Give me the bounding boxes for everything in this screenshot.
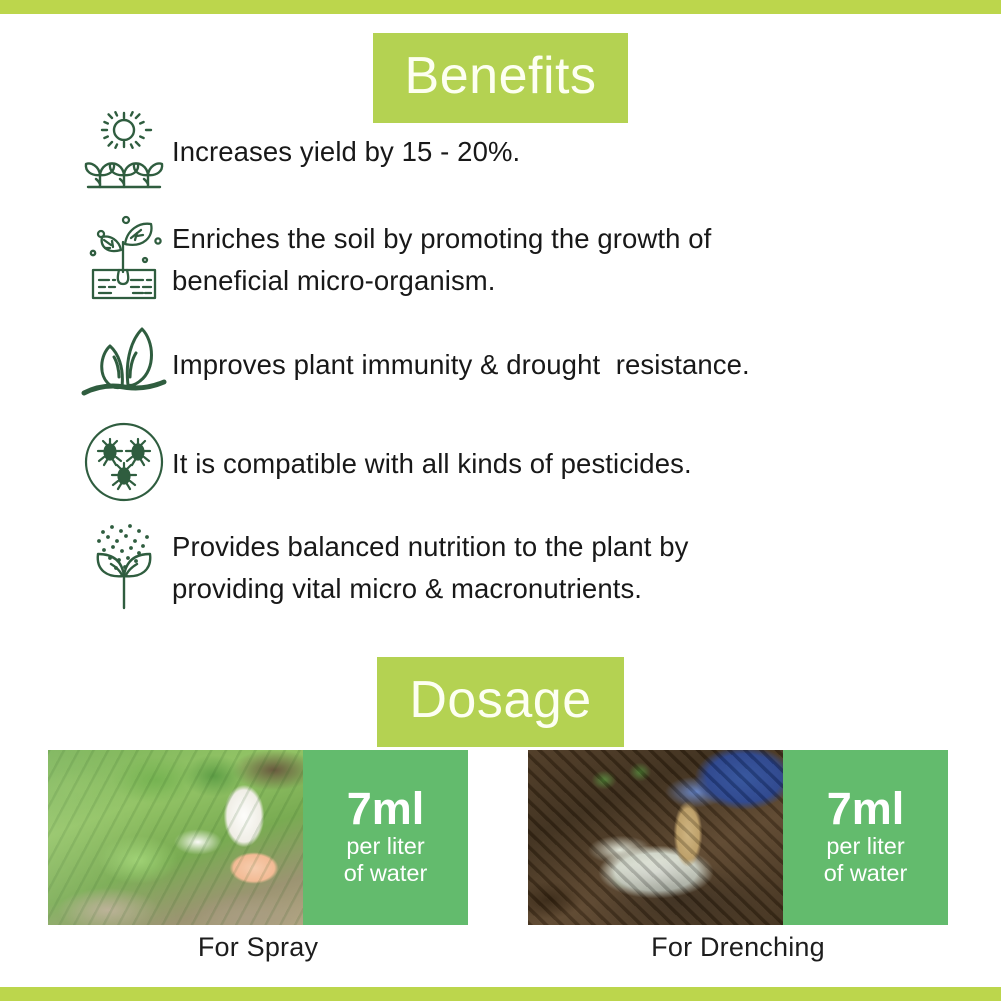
dosage-amount-panel: 7ml per liter of water — [303, 750, 468, 925]
benefit-item: Provides balanced nutrition to the plant… — [0, 514, 1001, 618]
dosage-heading: Dosage — [377, 657, 623, 747]
dosage-caption-spray: For Spray — [48, 932, 468, 963]
nutrients-sprinkling-plant-icon — [76, 520, 172, 612]
benefit-text: Enriches the soil by promoting the growt… — [172, 215, 1001, 302]
product-info-page: Benefits — [0, 0, 1001, 1001]
dosage-amount: 7ml — [827, 785, 905, 833]
dosage-unit-line-2: of water — [344, 860, 428, 887]
watering-can-drenching-soil-photo — [528, 750, 783, 925]
dosage-amount-panel: 7ml per liter of water — [783, 750, 948, 925]
benefit-item: Improves plant immunity & drought resist… — [0, 316, 1001, 410]
benefit-item: It is compatible with all kinds of pesti… — [0, 416, 1001, 508]
benefit-text: It is compatible with all kinds of pesti… — [172, 440, 1001, 485]
benefit-text: Improves plant immunity & drought resist… — [172, 341, 1001, 386]
dosage-caption-drenching: For Drenching — [528, 932, 948, 963]
bottom-accent-bar — [0, 987, 1001, 1001]
sun-over-seedlings-icon — [76, 109, 172, 195]
benefits-list: Increases yield by 15 - 20%. — [0, 104, 1001, 624]
benefit-text: Provides balanced nutrition to the plant… — [172, 523, 1001, 610]
dosage-unit-line-1: per liter — [346, 833, 424, 860]
benefit-text: Increases yield by 15 - 20%. — [172, 131, 1001, 173]
plant-in-soil-microbes-icon — [76, 214, 172, 302]
hand-spraying-plants-photo — [48, 750, 303, 925]
dosage-unit-line-2: of water — [824, 860, 908, 887]
dosage-unit-line-1: per liter — [826, 833, 904, 860]
dosage-card-drenching: 7ml per liter of water — [528, 750, 948, 925]
top-accent-bar — [0, 0, 1001, 14]
two-leaves-on-ground-icon — [76, 323, 172, 403]
dosage-cards: 7ml per liter of water 7ml per liter of … — [0, 750, 1001, 925]
dosage-amount: 7ml — [347, 785, 425, 833]
benefit-item: Enriches the soil by promoting the growt… — [0, 206, 1001, 310]
dosage-heading-container: Dosage — [0, 657, 1001, 747]
benefit-item: Increases yield by 15 - 20%. — [0, 104, 1001, 200]
insects-in-circle-icon — [76, 421, 172, 503]
dosage-card-spray: 7ml per liter of water — [48, 750, 468, 925]
